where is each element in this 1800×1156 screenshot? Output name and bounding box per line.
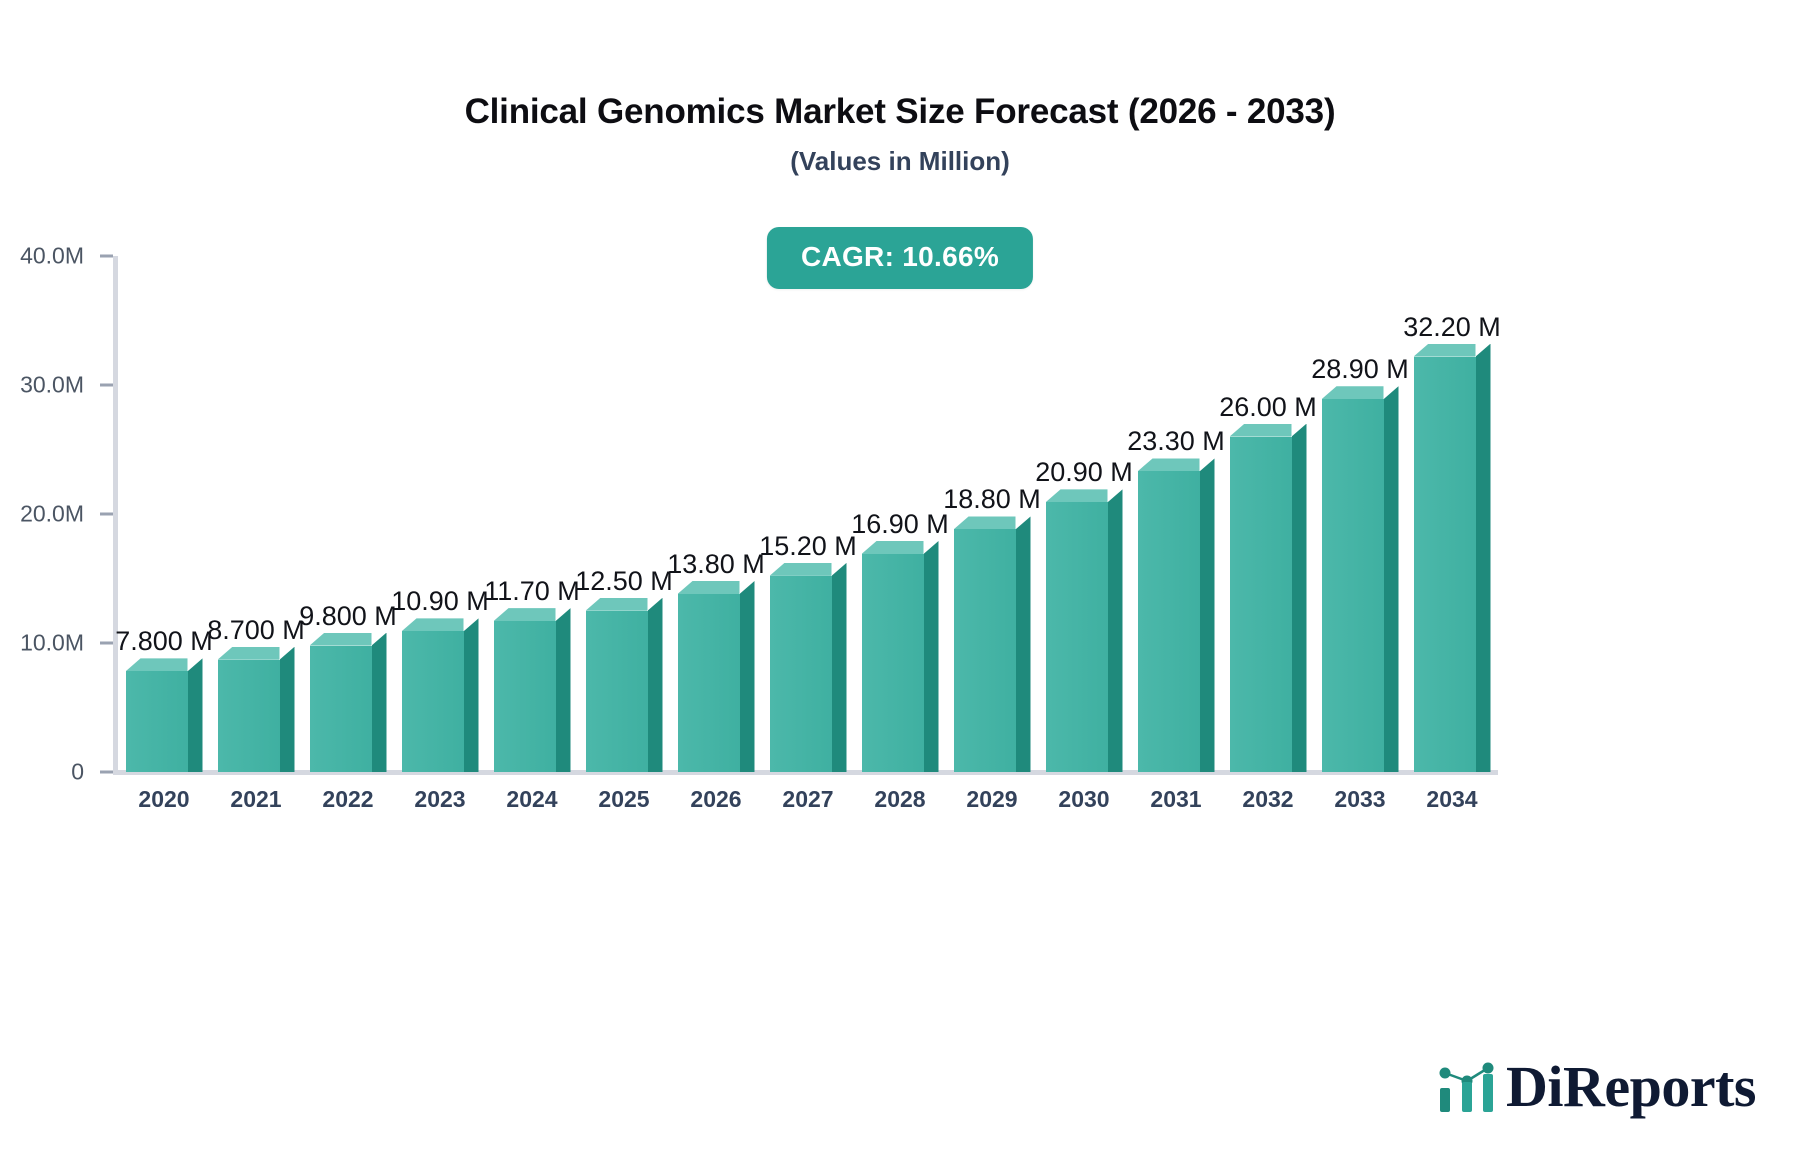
x-axis-tick-label: 2028 [854, 786, 946, 813]
bar-side-face [464, 618, 479, 772]
bar-value-label: 28.90 M [1311, 354, 1409, 385]
bar-slot: 13.80 M [670, 256, 762, 772]
x-axis-ticks: 2020202120222023202420252026202720282029… [118, 786, 1498, 813]
bar-slot: 9.800 M [302, 256, 394, 772]
x-axis-tick-label: 2032 [1222, 786, 1314, 813]
bar[interactable]: 16.90 M [862, 554, 939, 772]
bar-slot: 20.90 M [1038, 256, 1130, 772]
x-axis-tick-label: 2021 [210, 786, 302, 813]
bar-top-face [1230, 424, 1292, 437]
bar-value-label: 26.00 M [1219, 392, 1317, 423]
x-axis-tick-label: 2034 [1406, 786, 1498, 813]
y-axis-tick-label: 0 [71, 759, 84, 786]
x-axis-tick-label: 2033 [1314, 786, 1406, 813]
bar-slot: 16.90 M [854, 256, 946, 772]
bar-slot: 8.700 M [210, 256, 302, 772]
chart-subtitle: (Values in Million) [0, 146, 1800, 177]
bar-face [218, 660, 280, 772]
bar-slot: 32.20 M [1406, 256, 1498, 772]
bar[interactable]: 20.90 M [1046, 502, 1123, 772]
x-axis-tick-label: 2027 [762, 786, 854, 813]
bar-side-face [188, 658, 203, 772]
y-axis-tick: 0 [71, 759, 113, 786]
bar-top-face [1046, 489, 1108, 502]
y-axis-tick: 30.0M [20, 372, 113, 399]
bar-side-face [280, 647, 295, 772]
x-axis-tick-label: 2025 [578, 786, 670, 813]
bar[interactable]: 12.50 M [586, 611, 663, 772]
bar-top-face [770, 563, 832, 576]
bar-face [1230, 437, 1292, 772]
bar-slot: 18.80 M [946, 256, 1038, 772]
bar-side-face [1292, 424, 1307, 772]
bar-side-face [1200, 458, 1215, 772]
bar-chart-logo-icon [1436, 1060, 1498, 1114]
bar-face [862, 554, 924, 772]
bar-top-face [402, 618, 464, 631]
y-axis-tick-mark [100, 513, 113, 516]
bar-series: 7.800 M8.700 M9.800 M10.90 M11.70 M12.50… [118, 256, 1498, 772]
bar-slot: 23.30 M [1130, 256, 1222, 772]
page-title: Clinical Genomics Market Size Forecast (… [0, 92, 1800, 132]
bar[interactable]: 26.00 M [1230, 437, 1307, 772]
bar[interactable]: 13.80 M [678, 594, 755, 772]
bar-face [402, 631, 464, 772]
bar-value-label: 23.30 M [1127, 426, 1225, 457]
bar-face [1046, 502, 1108, 772]
bar-top-face [954, 516, 1016, 529]
x-axis-tick-label: 2026 [670, 786, 762, 813]
bar-slot: 11.70 M [486, 256, 578, 772]
bar-value-label: 20.90 M [1035, 457, 1133, 488]
x-axis-tick-label: 2024 [486, 786, 578, 813]
bar-value-label: 16.90 M [851, 509, 949, 540]
bar-side-face [372, 633, 387, 772]
y-axis-tick-mark [100, 255, 113, 258]
bar[interactable]: 11.70 M [494, 621, 571, 772]
bar-face [954, 529, 1016, 772]
bar[interactable]: 8.700 M [218, 660, 295, 772]
x-axis-tick-label: 2030 [1038, 786, 1130, 813]
bar-value-label: 32.20 M [1403, 312, 1501, 343]
bar-value-label: 7.800 M [115, 626, 213, 657]
bar-top-face [586, 598, 648, 611]
bar-slot: 7.800 M [118, 256, 210, 772]
bar-slot: 15.20 M [762, 256, 854, 772]
bar-top-face [1138, 458, 1200, 471]
bar-slot: 28.90 M [1314, 256, 1406, 772]
bar-side-face [924, 541, 939, 772]
title-block: Clinical Genomics Market Size Forecast (… [0, 92, 1800, 177]
bar-top-face [1414, 344, 1476, 357]
bar-value-label: 8.700 M [207, 615, 305, 646]
bar-face [1138, 471, 1200, 772]
direports-logo: DiReports [1436, 1058, 1756, 1116]
bar-value-label: 13.80 M [667, 549, 765, 580]
bar-top-face [126, 658, 188, 671]
y-axis-tick-label: 20.0M [20, 501, 84, 528]
bar-face [126, 671, 188, 772]
x-axis-tick-label: 2020 [118, 786, 210, 813]
logo-text: DiReports [1506, 1058, 1756, 1116]
bar[interactable]: 28.90 M [1322, 399, 1399, 772]
y-axis-tick-label: 30.0M [20, 372, 84, 399]
y-axis-tick-label: 40.0M [20, 243, 84, 270]
bar[interactable]: 23.30 M [1138, 471, 1215, 772]
bar-slot: 10.90 M [394, 256, 486, 772]
bar-top-face [862, 541, 924, 554]
bar-slot: 26.00 M [1222, 256, 1314, 772]
bar-face [678, 594, 740, 772]
bar-face [770, 576, 832, 772]
bar-value-label: 9.800 M [299, 601, 397, 632]
x-axis-tick-label: 2029 [946, 786, 1038, 813]
x-axis-tick-label: 2023 [394, 786, 486, 813]
y-axis-tick-mark [100, 642, 113, 645]
bar-side-face [1384, 386, 1399, 772]
y-axis-tick-label: 10.0M [20, 630, 84, 657]
bar[interactable]: 15.20 M [770, 576, 847, 772]
bar-top-face [310, 633, 372, 646]
bar-face [1414, 357, 1476, 772]
bar[interactable]: 10.90 M [402, 631, 479, 772]
chart-canvas: Clinical Genomics Market Size Forecast (… [0, 0, 1800, 1156]
bar-side-face [1476, 344, 1491, 772]
bar-top-face [1322, 386, 1384, 399]
bar-value-label: 12.50 M [575, 566, 673, 597]
bar-value-label: 11.70 M [484, 576, 580, 607]
bar-face [586, 611, 648, 772]
bar-top-face [678, 581, 740, 594]
bar-face [494, 621, 556, 772]
x-axis-tick-label: 2022 [302, 786, 394, 813]
bar-side-face [556, 608, 571, 772]
bar-value-label: 18.80 M [943, 484, 1041, 515]
bar-face [1322, 399, 1384, 772]
bar-slot: 12.50 M [578, 256, 670, 772]
bar-side-face [648, 598, 663, 772]
y-axis-tick: 10.0M [20, 630, 113, 657]
bar[interactable]: 9.800 M [310, 646, 387, 772]
bar[interactable]: 32.20 M [1414, 357, 1491, 772]
y-axis-tick-mark [100, 384, 113, 387]
bar-top-face [494, 608, 556, 621]
bar-value-label: 10.90 M [391, 586, 489, 617]
bar[interactable]: 18.80 M [954, 529, 1031, 772]
bar-value-label: 15.20 M [759, 531, 857, 562]
y-axis-ticks: 40.0M30.0M20.0M10.0M0 [0, 0, 113, 1156]
bar-face [310, 646, 372, 772]
x-axis-tick-label: 2031 [1130, 786, 1222, 813]
bar-top-face [218, 647, 280, 660]
bar[interactable]: 7.800 M [126, 671, 203, 772]
bar-side-face [1016, 516, 1031, 772]
y-axis-tick-mark [100, 771, 113, 774]
bar-side-face [1108, 489, 1123, 772]
bar-side-face [832, 563, 847, 772]
bar-side-face [740, 581, 755, 772]
y-axis-tick: 20.0M [20, 501, 113, 528]
y-axis-tick: 40.0M [20, 243, 113, 270]
